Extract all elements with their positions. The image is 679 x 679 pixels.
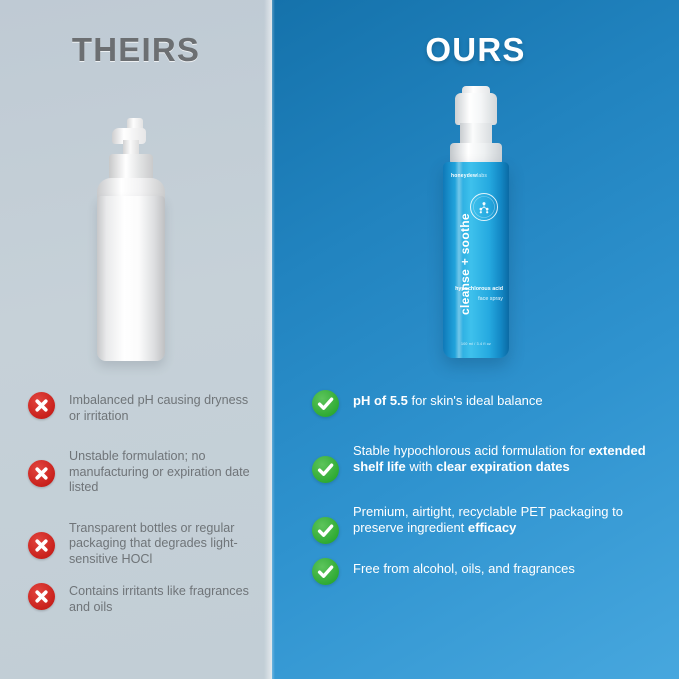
product-volume: 100 ml / 3.4 fl oz [443, 342, 509, 346]
x-circle-icon [28, 460, 55, 487]
product-brand-main: honeydew [451, 173, 477, 179]
list-item-label: pH of 5.5 for skin's ideal balance [353, 390, 664, 409]
molecule-icon [469, 192, 499, 222]
list-item-label: Premium, airtight, recyclable PET packag… [353, 501, 664, 536]
x-circle-icon [28, 532, 55, 559]
competitor-bottle-body [97, 196, 165, 361]
check-circle-icon [312, 390, 339, 417]
ours-heading: OURS [272, 30, 679, 70]
list-item: Contains irritants like fragrances and o… [28, 581, 260, 615]
comparison-infographic: THEIRS Imbalanced pH causing dryness or … [0, 0, 679, 679]
list-item-label: Stable hypochlorous acid formulation for… [353, 440, 664, 475]
list-item: pH of 5.5 for skin's ideal balance [312, 390, 664, 417]
list-item-label: Contains irritants like fragrances and o… [69, 581, 260, 615]
product-bottle-pump-head [455, 93, 497, 125]
list-item: Premium, airtight, recyclable PET packag… [312, 501, 664, 544]
list-item: Free from alcohol, oils, and fragrances [312, 558, 664, 585]
product-bottle-body: honeydewlabs [443, 162, 509, 358]
theirs-bullet-list: Imbalanced pH causing dryness or irritat… [28, 390, 260, 633]
list-item-label: Free from alcohol, oils, and fragrances [353, 558, 664, 577]
check-circle-icon [312, 558, 339, 585]
ours-panel-edge-highlight [272, 0, 275, 679]
list-item: Unstable formulation; no manufacturing o… [28, 446, 260, 496]
list-item-label: Transparent bottles or regular packaging… [69, 518, 260, 568]
x-circle-icon [28, 583, 55, 610]
panel-divider-highlight [264, 0, 272, 679]
check-circle-icon [312, 456, 339, 483]
theirs-heading: THEIRS [0, 30, 272, 70]
list-item: Transparent bottles or regular packaging… [28, 518, 260, 568]
list-item: Imbalanced pH causing dryness or irritat… [28, 390, 260, 424]
list-item: Stable hypochlorous acid formulation for… [312, 440, 664, 483]
list-item-label: Imbalanced pH causing dryness or irritat… [69, 390, 260, 424]
product-brand-suffix: labs [477, 173, 487, 179]
x-circle-icon [28, 392, 55, 419]
product-description-bold: hypochlorous acid [455, 286, 503, 293]
ours-bullet-list: pH of 5.5 for skin's ideal balance Stabl… [312, 390, 664, 603]
list-item-label: Unstable formulation; no manufacturing o… [69, 446, 260, 496]
product-brand-name: honeydewlabs [451, 173, 487, 179]
product-description-sub: face spray [455, 296, 503, 303]
check-circle-icon [312, 517, 339, 544]
product-description: hypochlorous acid face spray [455, 286, 503, 303]
